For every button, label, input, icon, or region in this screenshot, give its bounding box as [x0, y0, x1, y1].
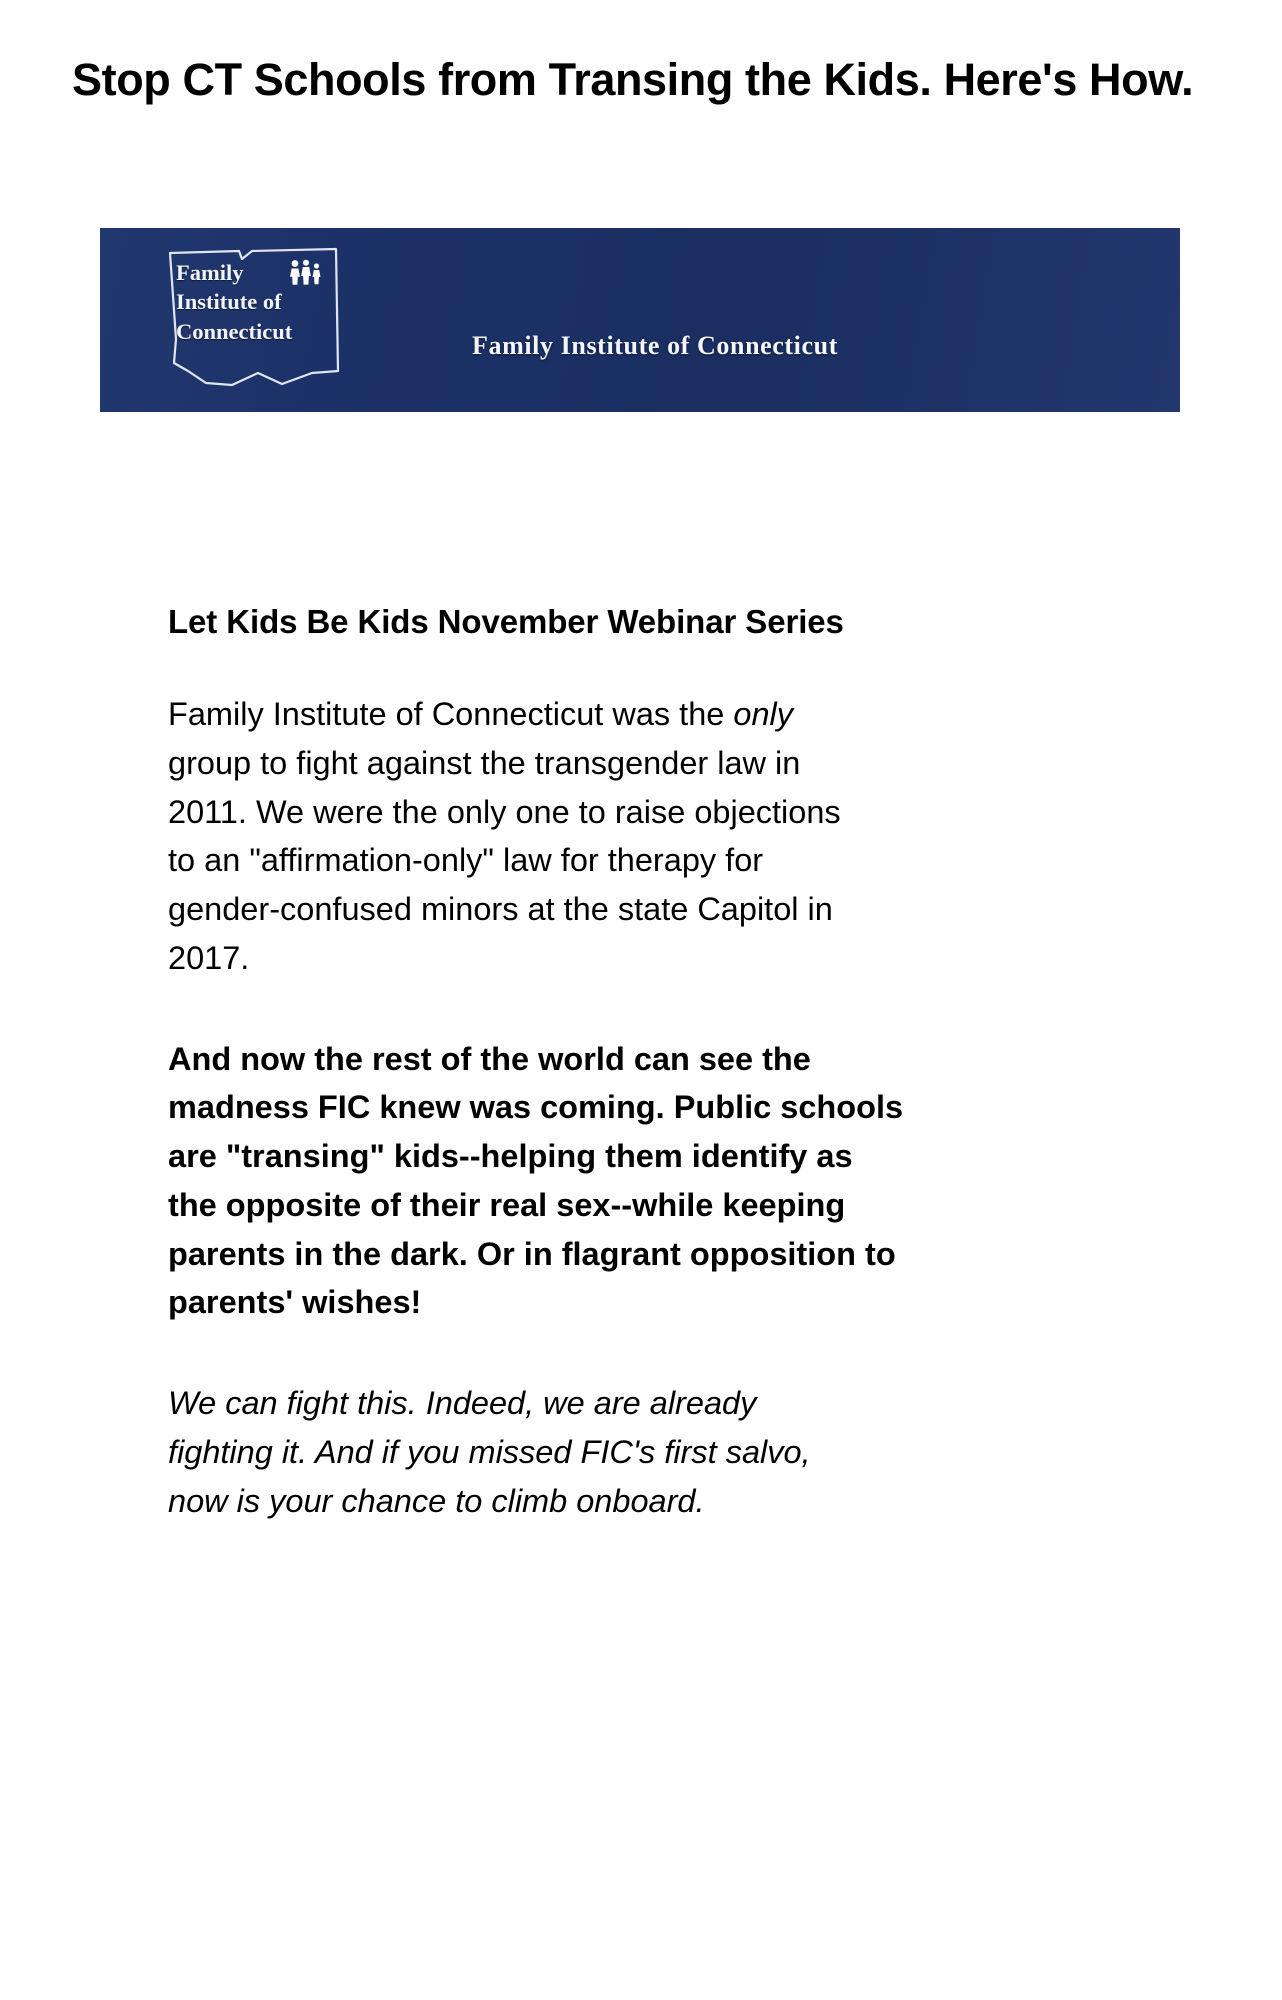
organization-logo: Family Institute of Connecticut — [162, 243, 344, 395]
article-body: Let Kids Be Kids November Webinar Series… — [168, 598, 1078, 1525]
organization-banner: Family Institute of Connecticut — [100, 228, 1180, 412]
logo-line-1: Family — [176, 258, 244, 287]
logo-line-3: Connecticut — [176, 317, 326, 346]
paragraph-intro-part1: Family Institute of Connecticut was the — [168, 696, 733, 732]
section-heading: Let Kids Be Kids November Webinar Series — [168, 598, 868, 646]
paragraph-call-to-action: We can fight this. Indeed, we are alread… — [168, 1379, 868, 1525]
logo-line-family-row: Family — [176, 258, 326, 287]
paragraph-emphasis-bold: And now the rest of the world can see th… — [168, 1035, 908, 1328]
banner-title: Family Institute of Connecticut — [472, 331, 838, 361]
paragraph-intro-part2: group to fight against the transgender l… — [168, 745, 841, 976]
family-figures-icon — [286, 259, 326, 285]
paragraph-intro-emphasis: only — [733, 696, 793, 732]
newsletter-page: Stop CT Schools from Transing the Kids. … — [0, 0, 1282, 2000]
banner-inner: Family Institute of Connecticut — [100, 228, 1180, 412]
page-title: Stop CT Schools from Transing the Kids. … — [72, 50, 1212, 109]
logo-line-2: Institute of — [176, 287, 326, 316]
paragraph-intro: Family Institute of Connecticut was the … — [168, 690, 868, 983]
logo-text: Family Institute of Connecticut — [176, 258, 326, 346]
